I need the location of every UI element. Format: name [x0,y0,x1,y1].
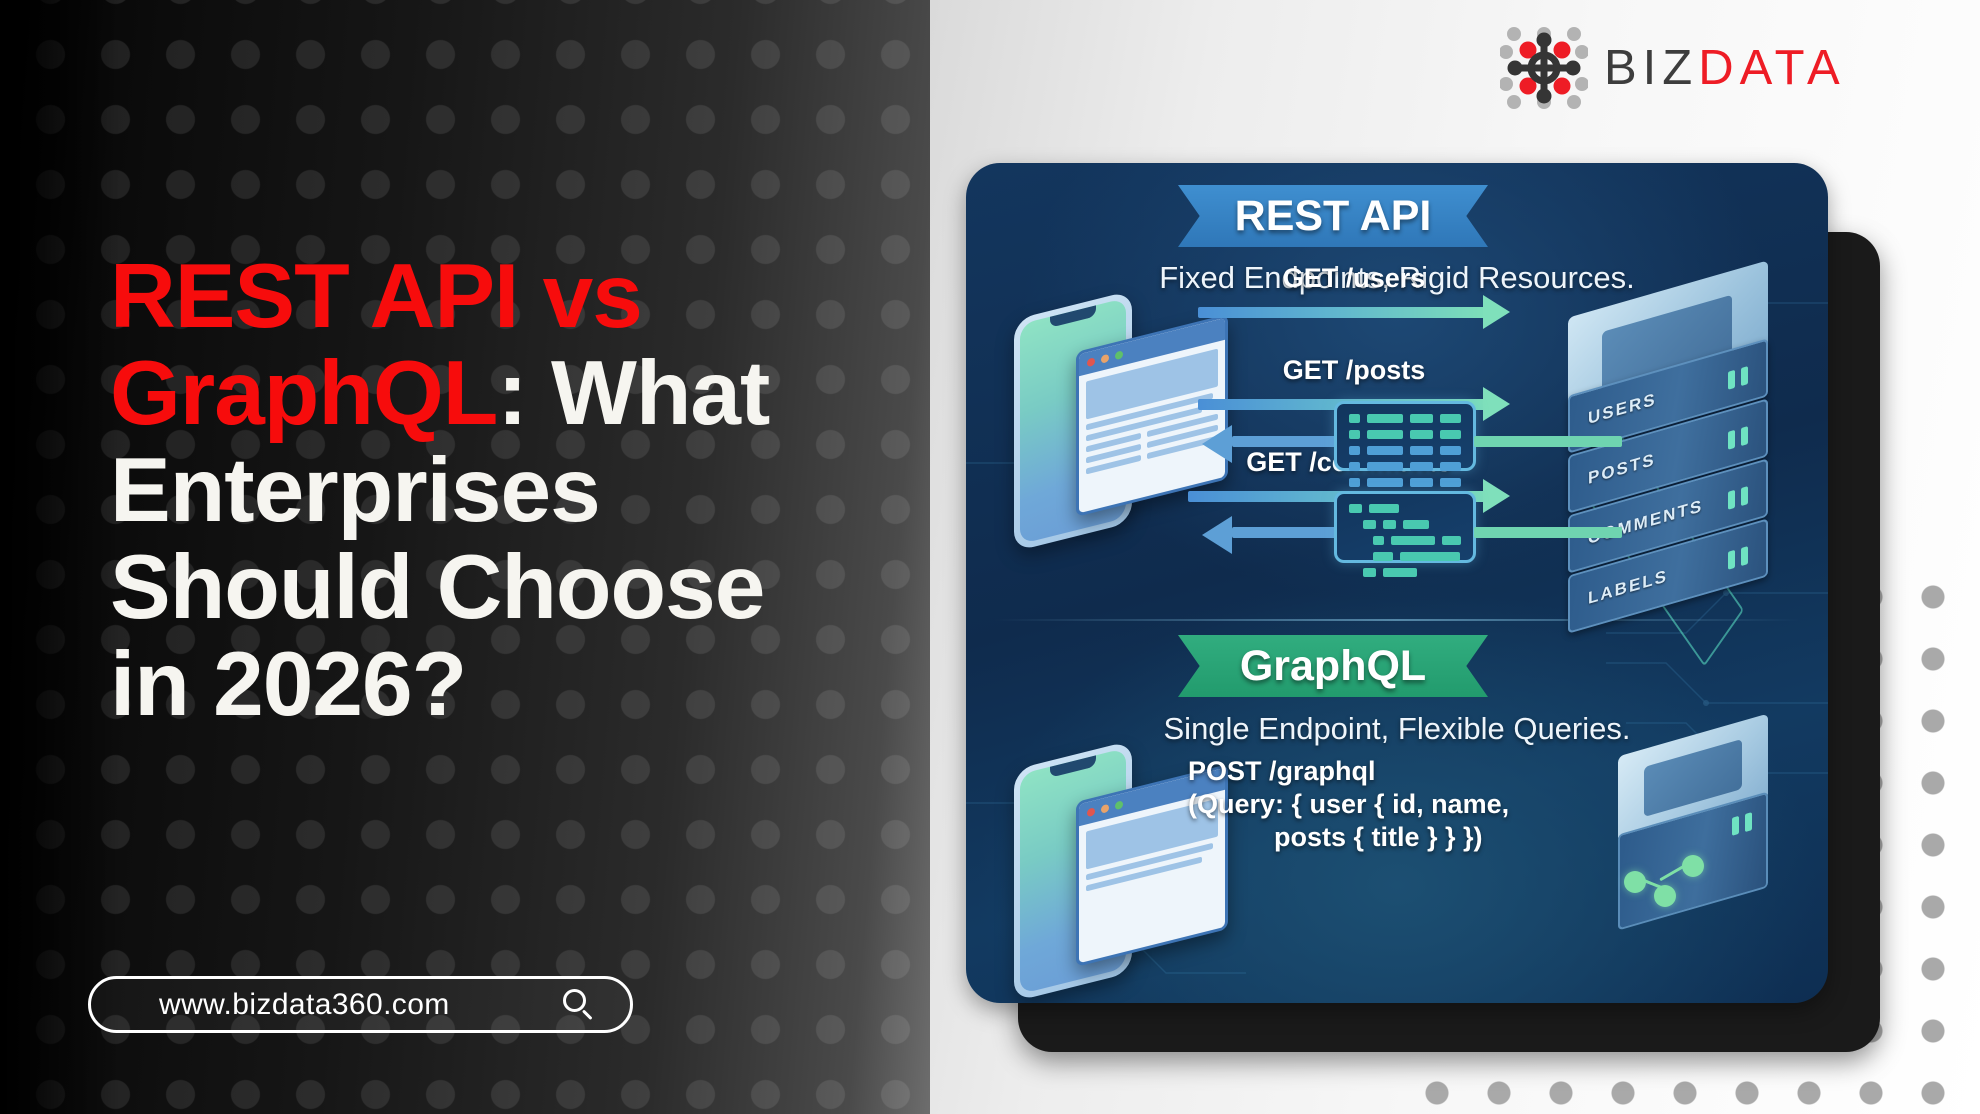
request-label-posts: GET /posts [1198,355,1510,386]
page-title: REST API vs GraphQL: What Enterprises Sh… [110,248,850,733]
response-table-card [1334,401,1476,471]
title-line-2-rest: : What [497,343,769,444]
graphql-server-cube [1606,729,1786,929]
rest-api-banner-label: REST API [1235,192,1432,241]
browser-dot-yellow [1101,804,1109,814]
title-accent-graphql: GraphQL [110,343,497,444]
response-json-card [1334,491,1476,563]
title-line-4: Should Choose [110,539,850,636]
browser-dot-red [1087,807,1095,817]
browser-dot-red [1087,357,1095,367]
graphql-banner-label: GraphQL [1240,642,1426,691]
poster-canvas: REST API vs GraphQL: What Enterprises Sh… [0,0,1980,1114]
brand-logo[interactable]: BIZDATA [1500,22,1880,114]
title-line-1: REST API vs [110,248,850,345]
brand-wordmark: BIZDATA [1604,40,1846,96]
response-arrow-head-1 [1202,425,1232,463]
browser-dot-yellow [1101,354,1109,364]
request-row-users: GET /users [1198,241,1510,301]
search-icon[interactable] [562,988,596,1022]
title-line-2: GraphQL: What [110,345,850,442]
request-label-users: GET /users [1198,263,1510,294]
rest-api-banner: REST API [1178,185,1488,247]
arrow-head-icon [1483,295,1510,329]
browser-dot-green [1115,800,1123,810]
graphql-query-text: POST /graphql (Query: { user { id, name,… [1188,755,1509,854]
arrow-head-icon [1483,479,1510,513]
website-search-bar[interactable]: www.bizdata360.com [88,976,633,1033]
api-comparison-illustration: REST API Fixed Endpoints, Rigid Resource… [966,163,1828,1003]
graphql-query-line-1: POST /graphql [1188,755,1509,788]
network-hub-icon [1500,24,1588,112]
title-line-5: in 2026? [110,636,850,733]
arrow-head-icon [1483,387,1510,421]
graphql-query-line-2: (Query: { user { id, name, [1188,788,1509,821]
title-accent-rest: REST API vs [110,246,642,347]
response-arrow-head-2 [1202,516,1232,554]
brand-name-biz: BIZ [1604,41,1698,95]
left-edge-fade [0,0,120,1114]
brand-name-data: DATA [1698,41,1845,95]
graphql-query-line-3: posts { title } } }) [1188,821,1509,854]
title-line-3: Enterprises [110,442,850,539]
request-row-posts: GET /posts [1198,333,1510,393]
graphql-banner: GraphQL [1178,635,1488,697]
browser-dot-green [1115,350,1123,360]
website-url-text: www.bizdata360.com [159,988,450,1022]
